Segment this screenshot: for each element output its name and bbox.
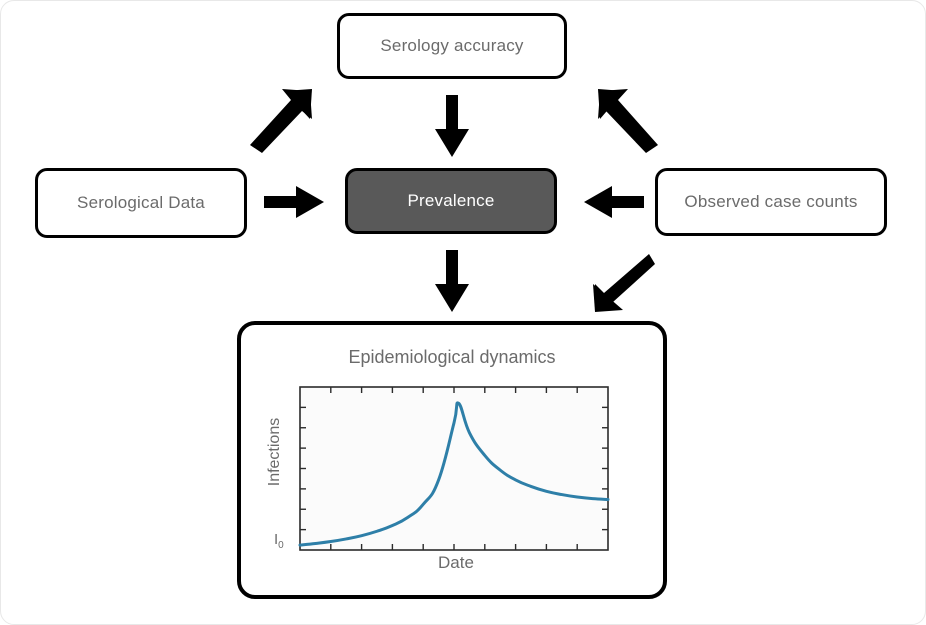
arrow-right-icon bbox=[264, 186, 324, 218]
node-prevalence[interactable]: Prevalence bbox=[345, 168, 557, 234]
panel-epidemiological-dynamics[interactable]: Epidemiological dynamics Infections Date… bbox=[237, 321, 667, 599]
arrow-down-icon bbox=[435, 95, 469, 157]
node-serology-accuracy-label: Serology accuracy bbox=[380, 36, 523, 56]
arrow-left-icon bbox=[584, 186, 644, 218]
node-observed-case-counts[interactable]: Observed case counts bbox=[655, 168, 887, 236]
node-serological-data[interactable]: Serological Data bbox=[35, 168, 247, 238]
diagram-canvas: Serology accuracy Serological Data Preva… bbox=[0, 0, 926, 625]
node-serology-accuracy[interactable]: Serology accuracy bbox=[337, 13, 567, 79]
node-serological-data-label: Serological Data bbox=[77, 193, 205, 213]
arrow-down-left-icon bbox=[593, 254, 655, 312]
arrow-up-right-icon bbox=[244, 89, 314, 153]
node-prevalence-label: Prevalence bbox=[407, 191, 494, 211]
epidemiological-dynamics-chart: Infections Date I0 mu eta bbox=[241, 325, 671, 603]
arrow-up-left-icon bbox=[598, 89, 664, 153]
plot-frame bbox=[300, 387, 608, 550]
arrow-down-2-icon bbox=[435, 250, 469, 312]
node-observed-case-counts-label: Observed case counts bbox=[684, 192, 857, 212]
chart-plot-area bbox=[241, 325, 671, 603]
